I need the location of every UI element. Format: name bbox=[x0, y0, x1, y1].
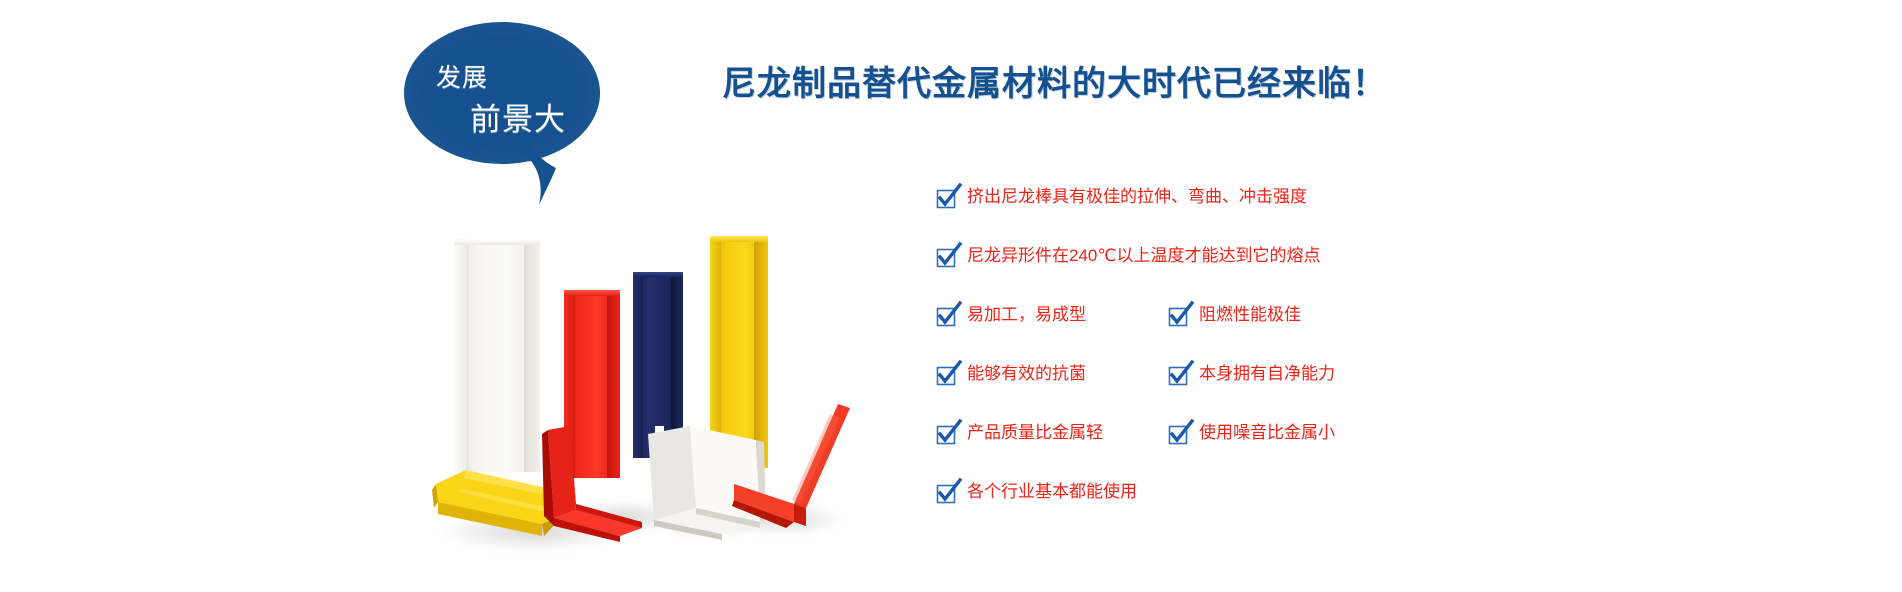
product-laying-red-angle bbox=[542, 424, 652, 542]
feature-item[interactable]: 阻燃性能极佳 bbox=[1170, 304, 1301, 326]
feature-label: 产品质量比金属轻 bbox=[967, 422, 1103, 444]
feature-row: 易加工，易成型 阻燃性能极佳 bbox=[938, 304, 1498, 363]
checkbox-checked-icon bbox=[938, 484, 956, 502]
channel-top-edge bbox=[564, 290, 620, 296]
feature-item[interactable]: 使用噪音比金属小 bbox=[1170, 422, 1335, 444]
checkbox-checked-icon bbox=[1170, 366, 1188, 384]
feature-row: 产品质量比金属轻 使用噪音比金属小 bbox=[938, 422, 1498, 481]
product-photo bbox=[430, 228, 870, 563]
feature-label: 易加工，易成型 bbox=[967, 304, 1086, 326]
feature-item[interactable]: 产品质量比金属轻 bbox=[938, 422, 1103, 444]
checkbox-checked-icon bbox=[938, 366, 956, 384]
bubble-line-2: 前景大 bbox=[470, 94, 566, 139]
channel-right-flange bbox=[524, 240, 540, 472]
feature-label: 各个行业基本都能使用 bbox=[967, 481, 1137, 503]
checkbox-checked-icon bbox=[1170, 307, 1188, 325]
promo-banner: 发展 前景大 尼龙制品替代金属材料的大时代已经来临！ bbox=[0, 0, 1902, 592]
checkbox-checked-icon bbox=[938, 248, 956, 266]
feature-item[interactable]: 易加工，易成型 bbox=[938, 304, 1086, 326]
feature-item[interactable]: 本身拥有自净能力 bbox=[1170, 363, 1335, 385]
channel-top-edge bbox=[454, 240, 540, 245]
checkbox-checked-icon bbox=[938, 307, 956, 325]
feature-row: 能够有效的抗菌 本身拥有自净能力 bbox=[938, 363, 1498, 422]
bubble-line-1: 发展 bbox=[436, 58, 488, 94]
product-laying-orange-angle bbox=[730, 400, 854, 542]
page-title: 尼龙制品替代金属材料的大时代已经来临！ bbox=[722, 56, 1387, 105]
product-upright-white-channel bbox=[454, 240, 540, 472]
feature-label: 挤出尼龙棒具有极佳的拉伸、弯曲、冲击强度 bbox=[967, 186, 1307, 208]
feature-item[interactable]: 各个行业基本都能使用 bbox=[938, 481, 1137, 503]
channel-top-edge bbox=[710, 236, 768, 242]
speech-bubble-body bbox=[404, 22, 600, 164]
channel-top-edge bbox=[633, 272, 683, 277]
feature-item[interactable]: 能够有效的抗菌 bbox=[938, 363, 1086, 385]
feature-item[interactable]: 挤出尼龙棒具有极佳的拉伸、弯曲、冲击强度 bbox=[938, 186, 1307, 208]
channel-left-flange bbox=[454, 240, 467, 472]
feature-list: 挤出尼龙棒具有极佳的拉伸、弯曲、冲击强度 尼龙异形件在240℃以上温度才能达到它… bbox=[938, 186, 1498, 540]
checkbox-checked-icon bbox=[938, 189, 956, 207]
feature-label: 本身拥有自净能力 bbox=[1199, 363, 1335, 385]
feature-label: 阻燃性能极佳 bbox=[1199, 304, 1301, 326]
feature-label: 使用噪音比金属小 bbox=[1199, 422, 1335, 444]
speech-bubble: 发展 前景大 bbox=[404, 22, 636, 212]
feature-row: 挤出尼龙棒具有极佳的拉伸、弯曲、冲击强度 bbox=[938, 186, 1498, 245]
checkbox-checked-icon bbox=[1170, 425, 1188, 443]
feature-label: 能够有效的抗菌 bbox=[967, 363, 1086, 385]
feature-row: 尼龙异形件在240℃以上温度才能达到它的熔点 bbox=[938, 245, 1498, 304]
feature-row: 各个行业基本都能使用 bbox=[938, 481, 1498, 540]
feature-item[interactable]: 尼龙异形件在240℃以上温度才能达到它的熔点 bbox=[938, 245, 1320, 267]
speech-bubble-tail bbox=[522, 134, 568, 206]
checkbox-checked-icon bbox=[938, 425, 956, 443]
feature-label: 尼龙异形件在240℃以上温度才能达到它的熔点 bbox=[967, 245, 1320, 267]
